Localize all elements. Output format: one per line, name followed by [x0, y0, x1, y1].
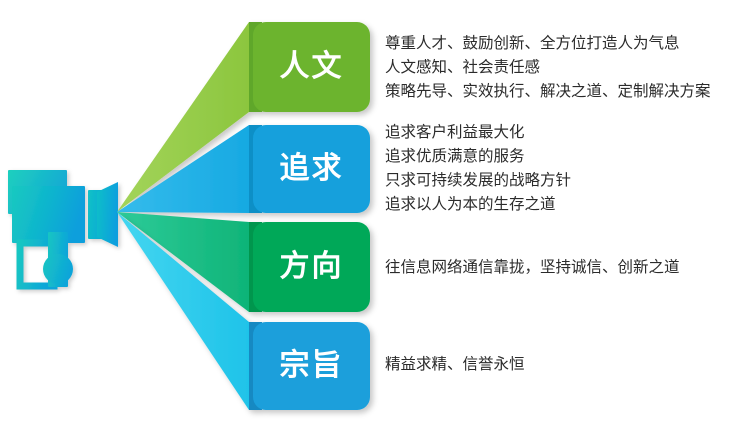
node-zongzhi[interactable]	[249, 322, 370, 410]
description-line: 追求优质满意的服务	[385, 144, 571, 168]
description-line: 追求客户利益最大化	[385, 120, 571, 144]
description-line: 精益求精、信誉永恒	[385, 352, 525, 376]
description-zhuiqiu: 追求客户利益最大化 追求优质满意的服务 只求可持续发展的战略方针 追求以人为本的…	[385, 120, 571, 216]
diagram-canvas: 人文 追求 方向 宗旨 尊重人才、鼓励创新、全方位打造人为气息 人文感知、社会责…	[0, 0, 745, 440]
node-fangxiang[interactable]	[249, 222, 370, 312]
description-line: 人文感知、社会责任感	[385, 55, 711, 79]
description-line: 策略先导、实效执行、解决之道、定制解决方案	[385, 79, 711, 103]
node-zhuiqiu[interactable]	[249, 125, 370, 213]
description-fangxiang: 往信息网络通信靠拢，坚持诚信、创新之道	[385, 255, 680, 279]
description-line: 往信息网络通信靠拢，坚持诚信、创新之道	[385, 255, 680, 279]
description-line: 追求以人为本的生存之道	[385, 192, 571, 216]
description-zongzhi: 精益求精、信誉永恒	[385, 352, 525, 376]
projector-icon-target[interactable]	[8, 170, 120, 290]
description-line: 只求可持续发展的战略方针	[385, 168, 571, 192]
description-line: 尊重人才、鼓励创新、全方位打造人为气息	[385, 31, 711, 55]
description-renwen: 尊重人才、鼓励创新、全方位打造人为气息 人文感知、社会责任感 策略先导、实效执行…	[385, 31, 711, 103]
node-renwen[interactable]	[249, 22, 370, 112]
